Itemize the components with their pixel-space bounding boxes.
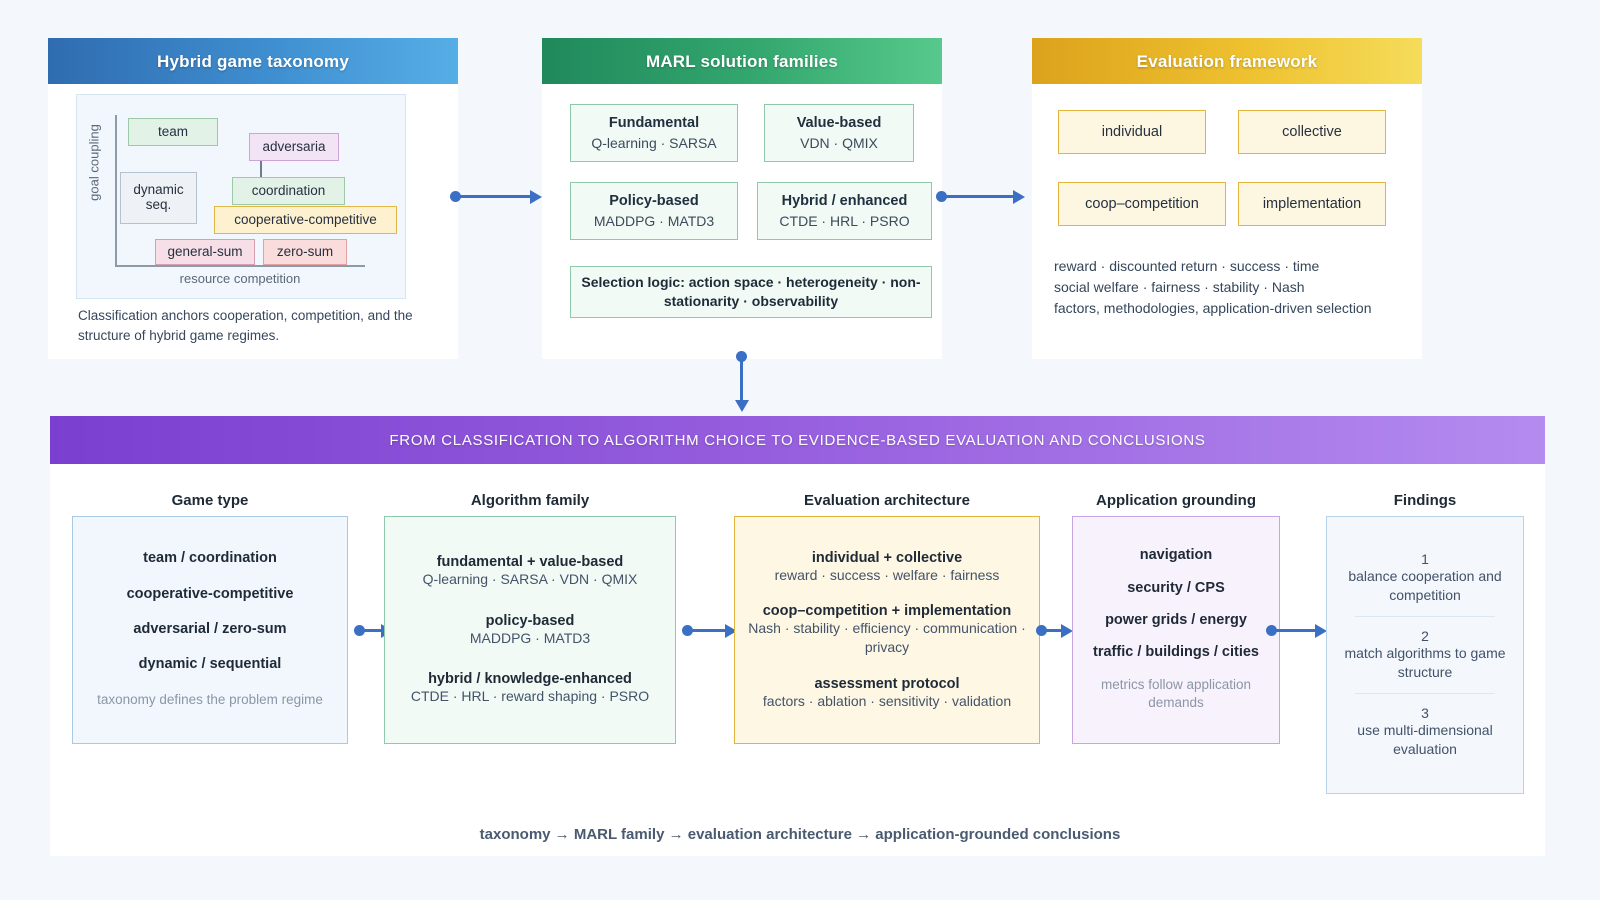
marl-panel-header: MARL solution families xyxy=(542,38,942,86)
connector-line-marl-eval xyxy=(942,195,1014,198)
taxonomy-node-label: cooperative-competitive xyxy=(234,213,377,228)
evaluation-dimension-label: implementation xyxy=(1263,196,1361,212)
finding-item: 3 use multi-dimensional evaluation xyxy=(1335,705,1515,759)
connector-line-gametype-algorithm xyxy=(360,629,382,632)
finding-number: 3 xyxy=(1335,705,1515,721)
flow-column-title-algorithm-family: Algorithm family xyxy=(384,492,676,509)
flow-box-findings[interactable]: 1 balance cooperation and competition 2 … xyxy=(1326,516,1524,794)
finding-divider xyxy=(1355,693,1495,694)
evaluation-panel-title: Evaluation framework xyxy=(1137,52,1318,72)
marl-family-name: Value-based xyxy=(797,115,882,131)
marl-family-fundamental[interactable]: Fundamental Q-learning · SARSA xyxy=(570,104,738,162)
flow-column-title-findings: Findings xyxy=(1326,492,1524,509)
evaluation-group-sub: reward · success · welfare · fairness xyxy=(775,566,1000,585)
marl-family-name: Fundamental xyxy=(609,115,699,131)
taxonomy-node-label-2: seq. xyxy=(146,198,172,213)
flow-column-title-game-type: Game type xyxy=(72,492,348,509)
taxonomy-node-label: team xyxy=(158,125,188,140)
flow-banner-text: FROM CLASSIFICATION TO ALGORITHM CHOICE … xyxy=(389,432,1205,449)
algorithm-group-head: fundamental + value-based xyxy=(423,554,638,570)
evaluation-dimension-label: individual xyxy=(1102,124,1162,140)
evaluation-metric-line: reward · discounted return · success · t… xyxy=(1054,256,1414,277)
evaluation-group-sub: factors · ablation · sensitivity · valid… xyxy=(763,692,1011,711)
marl-family-name: Hybrid / enhanced xyxy=(782,193,908,209)
finding-text: match algorithms to game structure xyxy=(1335,644,1515,682)
algorithm-group-sub: MADDPG · MATD3 xyxy=(470,629,590,648)
marl-family-algos: VDN · QMIX xyxy=(800,135,878,151)
taxonomy-node-label: zero-sum xyxy=(277,245,333,260)
taxonomy-node-zero-sum[interactable]: zero-sum xyxy=(263,239,347,265)
taxonomy-link-tick xyxy=(260,161,262,177)
flow-panel: Game type team / coordination cooperativ… xyxy=(50,464,1545,856)
taxonomy-node-coordination[interactable]: coordination xyxy=(232,177,345,205)
finding-item: 1 balance cooperation and competition xyxy=(1335,551,1515,605)
finding-text: balance cooperation and competition xyxy=(1335,567,1515,605)
connector-line-tax-marl xyxy=(456,195,531,198)
application-note: metrics follow application demands xyxy=(1081,676,1271,712)
finding-number: 2 xyxy=(1335,628,1515,644)
evaluation-metric-line: social welfare · fairness · stability · … xyxy=(1054,277,1414,298)
marl-selection-logic: Selection logic: action space · heteroge… xyxy=(570,266,932,318)
evaluation-dimension-label: coop–competition xyxy=(1085,196,1199,212)
marl-family-algos: CTDE · HRL · PSRO xyxy=(779,213,909,229)
marl-selection-logic-text: Selection logic: action space · heteroge… xyxy=(579,273,923,311)
evaluation-dimension-implementation[interactable]: implementation xyxy=(1238,182,1386,226)
goal-coupling-axis xyxy=(115,115,117,267)
evaluation-dimension-label: collective xyxy=(1282,124,1342,140)
taxonomy-node-dynamic-seq[interactable]: dynamic seq. xyxy=(120,172,197,224)
flow-column-title-evaluation-architecture: Evaluation architecture xyxy=(734,492,1040,509)
flow-banner: FROM CLASSIFICATION TO ALGORITHM CHOICE … xyxy=(50,416,1545,464)
algorithm-group-head: hybrid / knowledge-enhanced xyxy=(411,671,649,687)
flow-box-application-grounding[interactable]: navigation security / CPS power grids / … xyxy=(1072,516,1280,744)
axis-label-resource-competition: resource competition xyxy=(115,271,365,286)
resource-competition-axis xyxy=(115,265,365,267)
game-type-note: taxonomy defines the problem regime xyxy=(97,691,323,709)
flow-box-game-type[interactable]: team / coordination cooperative-competit… xyxy=(72,516,348,744)
finding-text: use multi-dimensional evaluation xyxy=(1335,721,1515,759)
evaluation-group-head: coop–competition + implementation xyxy=(743,603,1031,619)
flow-box-evaluation-architecture[interactable]: individual + collective reward · success… xyxy=(734,516,1040,744)
connector-arrow-marl-banner xyxy=(735,400,749,412)
taxonomy-node-cooperative-competitive[interactable]: cooperative-competitive xyxy=(214,206,397,234)
evaluation-metric-line: factors, methodologies, application-driv… xyxy=(1054,298,1414,319)
taxonomy-node-general-sum[interactable]: general-sum xyxy=(155,239,255,265)
connector-arrow-tax-marl xyxy=(530,190,542,204)
algorithm-group-head: policy-based xyxy=(470,613,590,629)
connector-line-evaluation-application xyxy=(1042,629,1062,632)
game-type-item: adversarial / zero-sum xyxy=(133,621,286,637)
taxonomy-caption: Classification anchors cooperation, comp… xyxy=(78,306,448,345)
game-type-item: cooperative-competitive xyxy=(127,586,294,602)
finding-number: 1 xyxy=(1335,551,1515,567)
taxonomy-node-adversarial[interactable]: adversaria xyxy=(249,133,339,161)
finding-item: 2 match algorithms to game structure xyxy=(1335,628,1515,682)
finding-divider xyxy=(1355,616,1495,617)
column-title-text: Application grounding xyxy=(1096,492,1256,509)
evaluation-group-head: assessment protocol xyxy=(763,676,1011,692)
taxonomy-panel: goal coupling resource competition team … xyxy=(48,84,458,359)
connector-line-application-findings xyxy=(1272,629,1316,632)
evaluation-dimension-individual[interactable]: individual xyxy=(1058,110,1206,154)
marl-family-hybrid-enhanced[interactable]: Hybrid / enhanced CTDE · HRL · PSRO xyxy=(757,182,932,240)
marl-family-value-based[interactable]: Value-based VDN · QMIX xyxy=(764,104,914,162)
algorithm-group-sub: Q-learning · SARSA · VDN · QMIX xyxy=(423,570,638,589)
taxonomy-plot: goal coupling resource competition team … xyxy=(76,94,406,299)
column-title-text: Algorithm family xyxy=(471,492,589,509)
algorithm-group-sub: CTDE · HRL · reward shaping · PSRO xyxy=(411,687,649,706)
evaluation-metrics-list: reward · discounted return · success · t… xyxy=(1054,256,1414,319)
taxonomy-node-label: coordination xyxy=(252,184,326,199)
flow-caption: taxonomy → MARL family → evaluation arch… xyxy=(0,826,1600,843)
taxonomy-node-label: adversaria xyxy=(262,140,325,155)
taxonomy-panel-title: Hybrid game taxonomy xyxy=(157,52,349,72)
evaluation-group-head: individual + collective xyxy=(775,550,1000,566)
column-title-text: Findings xyxy=(1394,492,1457,509)
connector-line-marl-banner xyxy=(740,357,743,401)
application-item: navigation xyxy=(1140,547,1213,563)
connector-arrow-marl-eval xyxy=(1013,190,1025,204)
marl-family-name: Policy-based xyxy=(609,193,698,209)
marl-panel-title: MARL solution families xyxy=(646,52,838,72)
flow-box-algorithm-family[interactable]: fundamental + value-based Q-learning · S… xyxy=(384,516,676,744)
marl-family-algos: MADDPG · MATD3 xyxy=(594,213,714,229)
evaluation-group-sub: Nash · stability · efficiency · communic… xyxy=(743,619,1031,657)
game-type-item: team / coordination xyxy=(143,550,277,566)
marl-family-algos: Q-learning · SARSA xyxy=(591,135,716,151)
diagram-canvas: Hybrid game taxonomy goal coupling resou… xyxy=(0,0,1600,900)
taxonomy-node-label: general-sum xyxy=(167,245,242,260)
taxonomy-node-label: dynamic xyxy=(133,183,183,198)
taxonomy-panel-header: Hybrid game taxonomy xyxy=(48,38,458,86)
application-item: power grids / energy xyxy=(1105,612,1247,628)
evaluation-dimension-coop-competition[interactable]: coop–competition xyxy=(1058,182,1226,226)
column-title-text: Game type xyxy=(172,492,249,509)
application-item: security / CPS xyxy=(1127,580,1225,596)
application-item: traffic / buildings / cities xyxy=(1093,644,1259,660)
evaluation-panel: individual collective coop–competition i… xyxy=(1032,84,1422,359)
column-title-text: Evaluation architecture xyxy=(804,492,970,509)
axis-label-goal-coupling: goal coupling xyxy=(87,108,102,218)
marl-family-policy-based[interactable]: Policy-based MADDPG · MATD3 xyxy=(570,182,738,240)
game-type-item: dynamic / sequential xyxy=(139,656,282,672)
taxonomy-node-team[interactable]: team xyxy=(128,118,218,146)
marl-panel: Fundamental Q-learning · SARSA Value-bas… xyxy=(542,84,942,359)
evaluation-dimension-collective[interactable]: collective xyxy=(1238,110,1386,154)
evaluation-panel-header: Evaluation framework xyxy=(1032,38,1422,86)
connector-line-algorithm-evaluation xyxy=(688,629,726,632)
flow-column-title-application-grounding: Application grounding xyxy=(1072,492,1280,509)
